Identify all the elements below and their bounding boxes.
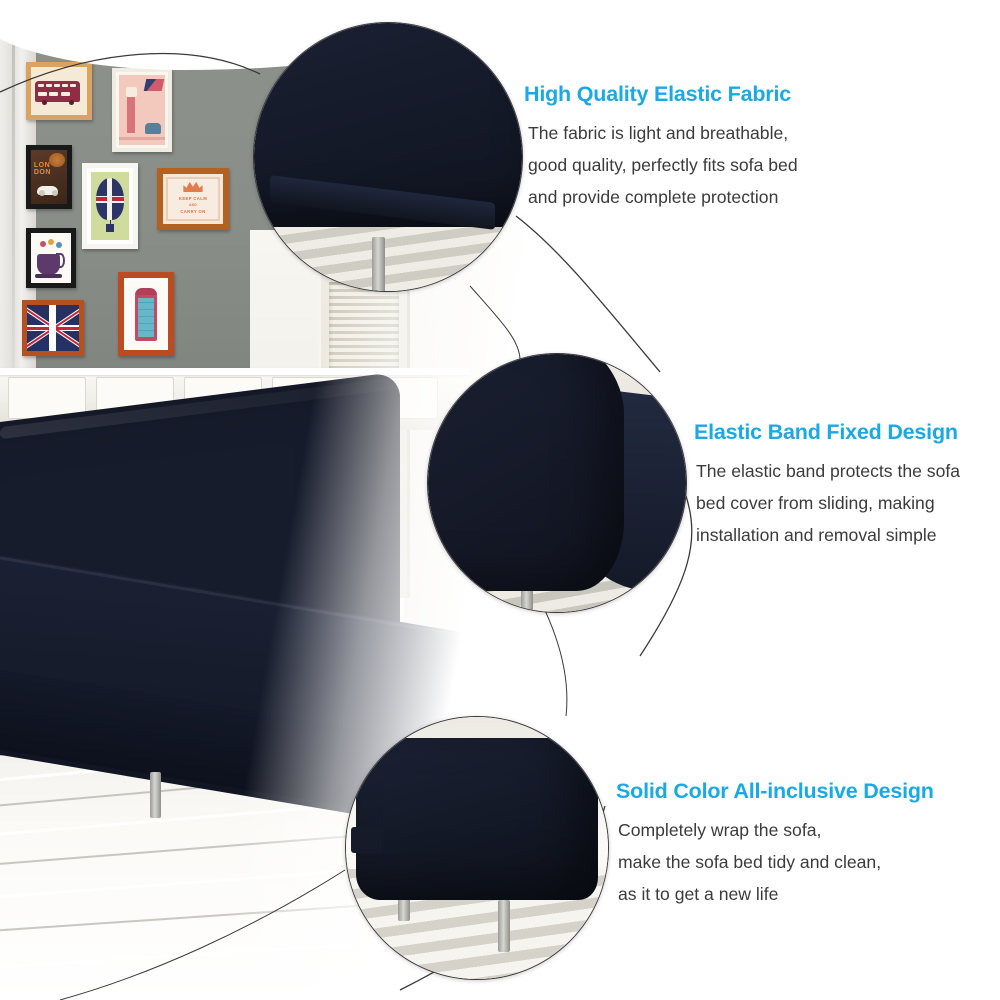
feature-body-elastic-band: The elastic band protects the sofa bed c… [696, 455, 960, 551]
feature-body-line: bed cover from sliding, making [696, 487, 960, 519]
feature-body-line: installation and removal simple [696, 519, 960, 551]
feature-body-line: Completely wrap the sofa, [618, 814, 934, 846]
feature-heading-fabric: High Quality Elastic Fabric [524, 82, 798, 107]
keep-calm-line3: CARRY ON [168, 209, 218, 214]
frame-keep-calm: KEEP CALM AND CARRY ON [157, 168, 229, 230]
feature-body-line: as it to get a new life [618, 878, 934, 910]
frame-union-jack-balloon [82, 163, 138, 249]
frame-london-bus [26, 62, 92, 120]
feature-body-line: good quality, perfectly fits sofa bed [528, 149, 798, 181]
feature-body-line: make the sofa bed tidy and clean, [618, 846, 934, 878]
frame-telephone-box [118, 272, 174, 356]
frame-london-line1: LON DON [34, 162, 67, 176]
feature-body-line: The elastic band protects the sofa [696, 455, 960, 487]
feature-heading-all-inclusive: Solid Color All-inclusive Design [616, 779, 934, 804]
feature-body-line: The fabric is light and breathable, [528, 117, 798, 149]
keep-calm-line1: KEEP CALM [168, 196, 218, 201]
keep-calm-line2: AND [168, 203, 218, 207]
sofa-leg-left [150, 772, 161, 818]
infographic-canvas: LON DON [0, 0, 1000, 1000]
frame-teacup [26, 228, 76, 288]
feature-block-fabric: High Quality Elastic Fabric The fabric i… [524, 82, 798, 213]
callout-circle-all-inclusive [345, 716, 609, 980]
frame-london-text: LON DON [26, 145, 72, 209]
callout-circle-fabric [253, 22, 523, 292]
callout-circle-elastic-band [427, 353, 687, 613]
frame-union-jack [22, 300, 84, 356]
frame-big-ben [112, 68, 172, 152]
feature-body-line: and provide complete protection [528, 181, 798, 213]
feature-body-all-inclusive: Completely wrap the sofa, make the sofa … [618, 814, 934, 910]
feature-body-fabric: The fabric is light and breathable, good… [528, 117, 798, 213]
feature-heading-elastic-band: Elastic Band Fixed Design [694, 420, 960, 445]
feature-block-all-inclusive: Solid Color All-inclusive Design Complet… [616, 779, 934, 910]
feature-block-elastic-band: Elastic Band Fixed Design The elastic ba… [694, 420, 960, 551]
